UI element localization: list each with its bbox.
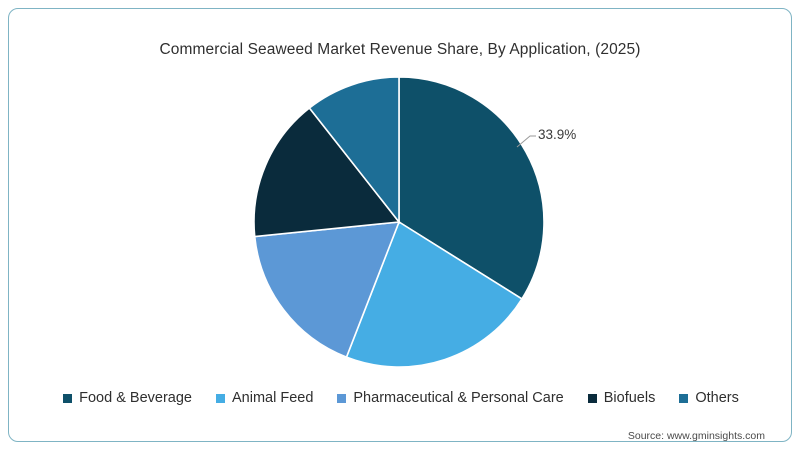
pie-slice[interactable]: [309, 77, 399, 222]
pie-slice[interactable]: [346, 222, 521, 367]
callout-leader-line: [517, 136, 536, 147]
pie-slice[interactable]: [399, 77, 544, 299]
pie-chart-svg: [9, 9, 793, 443]
legend-swatch-icon: [588, 394, 597, 403]
legend-item[interactable]: Animal Feed: [216, 390, 313, 406]
legend-swatch-icon: [337, 394, 346, 403]
legend-swatch-icon: [63, 394, 72, 403]
pie-chart: [9, 9, 793, 443]
legend-item-label: Animal Feed: [232, 390, 313, 406]
legend-item-label: Others: [695, 390, 739, 406]
legend-item-label: Pharmaceutical & Personal Care: [353, 390, 563, 406]
source-note: Source: www.gminsights.com: [628, 430, 765, 442]
chart-card: Commercial Seaweed Market Revenue Share,…: [8, 8, 792, 442]
legend-swatch-icon: [679, 394, 688, 403]
legend-item[interactable]: Pharmaceutical & Personal Care: [337, 390, 563, 406]
legend-swatch-icon: [216, 394, 225, 403]
pie-slice-group: [254, 77, 544, 367]
slice-value-label: 33.9%: [538, 127, 576, 142]
chart-legend: Food & BeverageAnimal FeedPharmaceutical…: [9, 390, 793, 406]
pie-slice[interactable]: [254, 108, 399, 237]
page-title: Commercial Seaweed Market Revenue Share,…: [9, 41, 791, 59]
legend-item-label: Biofuels: [604, 390, 656, 406]
pie-slice[interactable]: [255, 222, 399, 357]
legend-item-label: Food & Beverage: [79, 390, 192, 406]
legend-item[interactable]: Biofuels: [588, 390, 656, 406]
legend-item[interactable]: Food & Beverage: [63, 390, 192, 406]
legend-item[interactable]: Others: [679, 390, 739, 406]
